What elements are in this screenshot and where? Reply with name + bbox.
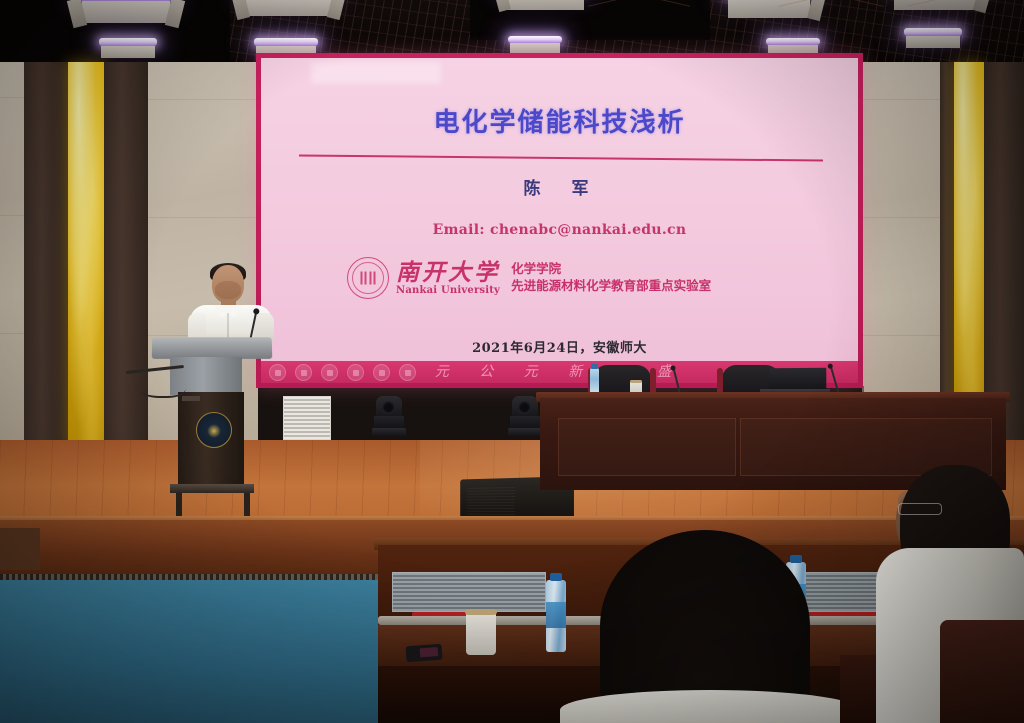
ceiling-light-fixture — [95, 38, 161, 58]
auditorium-photo: 电化学储能科技浅析 陈 军 Email: chenabc@nankai.edu.… — [0, 0, 1024, 723]
slide-email: Email: chenabc@nankai.edu.cn — [261, 222, 858, 238]
nankai-university-seal-icon — [347, 257, 389, 299]
ceiling-light-fixture — [70, 0, 180, 40]
desk-vent-grille-left — [392, 572, 546, 612]
university-name-block: 南开大学 Nankai University — [396, 261, 500, 296]
smartphone[interactable] — [405, 644, 442, 662]
university-name-cn: 南开大学 — [396, 261, 500, 284]
moving-head-light-right — [508, 396, 542, 438]
wall-air-vent-grille — [283, 396, 331, 440]
wall-marble-panel — [0, 62, 24, 452]
department-line-1: 化学学院 — [511, 261, 711, 278]
screen-glare — [311, 62, 441, 84]
previous-slide-icon[interactable] — [269, 364, 286, 381]
wall-gold-light-panel — [68, 62, 104, 448]
head-table-panel — [558, 418, 736, 476]
floor-cable-loop — [140, 374, 186, 398]
zoom-magnify-icon[interactable] — [373, 364, 390, 381]
audience-member-shoulders — [560, 690, 860, 723]
department-block: 化学学院 先进能源材料化学教育部重点实验室 — [511, 261, 711, 295]
more-options-icon[interactable] — [399, 364, 416, 381]
slide-author: 陈 军 — [261, 174, 858, 199]
slide-thumbnails-icon[interactable] — [347, 364, 364, 381]
presenter — [188, 265, 274, 343]
department-line-2: 先进能源材料化学教育部重点实验室 — [511, 278, 711, 295]
wall-pillar — [104, 62, 148, 452]
wall-pillar — [24, 62, 68, 454]
presenter-face-shadow — [215, 281, 241, 299]
coffee-cup — [466, 613, 496, 655]
slide-date-location: 2021年6月24日，安徽师大 — [261, 337, 858, 356]
ceiling-light-fixture — [900, 28, 966, 48]
university-crest-icon — [196, 412, 232, 448]
lectern-base — [170, 484, 254, 493]
slide-divider — [299, 154, 823, 161]
audience-chair-back — [940, 620, 1024, 723]
ceiling-light-fixture — [496, 0, 592, 28]
next-slide-icon[interactable] — [295, 364, 312, 381]
lectern-nameplate — [182, 396, 200, 401]
moving-head-light-left — [372, 396, 406, 438]
water-bottle-left — [546, 580, 566, 652]
slide-affiliation-row: 南开大学 Nankai University 化学学院 先进能源材料化学教育部重… — [347, 254, 817, 302]
presentation-controls[interactable] — [269, 364, 416, 381]
university-name-en: Nankai University — [396, 286, 500, 296]
pen-annotate-icon[interactable] — [321, 364, 338, 381]
stage-side-step — [0, 528, 40, 570]
ceiling-light-fixture — [234, 0, 342, 32]
eyeglasses-icon — [898, 503, 942, 515]
projection-screen[interactable]: 电化学储能科技浅析 陈 军 Email: chenabc@nankai.edu.… — [261, 58, 858, 383]
slide-title: 电化学储能科技浅析 — [261, 102, 858, 139]
blue-fabric-panel — [0, 580, 380, 723]
lectern-top — [152, 337, 273, 359]
